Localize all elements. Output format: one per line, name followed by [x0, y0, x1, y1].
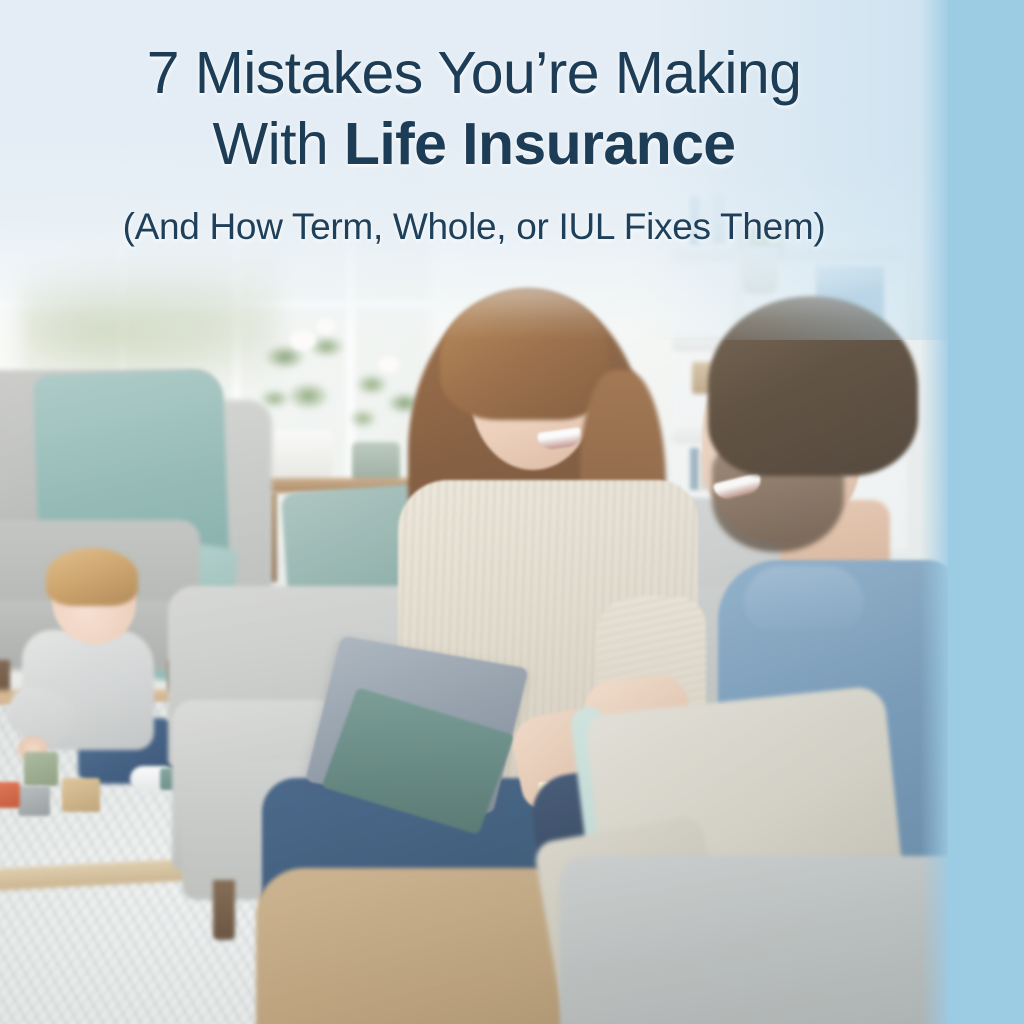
headline-line-2-prefix: With: [212, 111, 343, 177]
headline-line-1: 7 Mistakes You’re Making: [147, 40, 802, 106]
plant-pot-white: [272, 430, 334, 484]
plant-blossom: [290, 330, 316, 350]
plant-blossom: [378, 356, 400, 373]
subtitle: (And How Term, Whole, or IUL Fixes Them): [123, 204, 826, 250]
man-shirt-collar: [744, 566, 864, 630]
sofa-leg: [213, 880, 235, 940]
foreground-sofa-arm: [560, 856, 948, 1024]
headline-emphasis: Life Insurance: [344, 111, 736, 177]
headline-line-2: With Life Insurance: [147, 109, 802, 180]
man-hair: [708, 296, 918, 476]
headline-block: 7 Mistakes You’re Making With Life Insur…: [0, 0, 948, 300]
accent-band: [948, 0, 1024, 1024]
woman-hair-front: [440, 290, 608, 420]
toy-block-sage: [24, 752, 58, 786]
toy-block-wood: [62, 778, 100, 812]
poster-canvas: 7 Mistakes You’re Making With Life Insur…: [0, 0, 1024, 1024]
book: [690, 448, 699, 490]
accent-band-feather: [920, 0, 950, 1024]
toy-block-orange: [0, 782, 20, 808]
toy-block-gray: [18, 786, 50, 816]
toddler-hair: [46, 548, 138, 606]
plant-blossom: [316, 318, 336, 334]
page-title: 7 Mistakes You’re Making With Life Insur…: [147, 38, 802, 180]
